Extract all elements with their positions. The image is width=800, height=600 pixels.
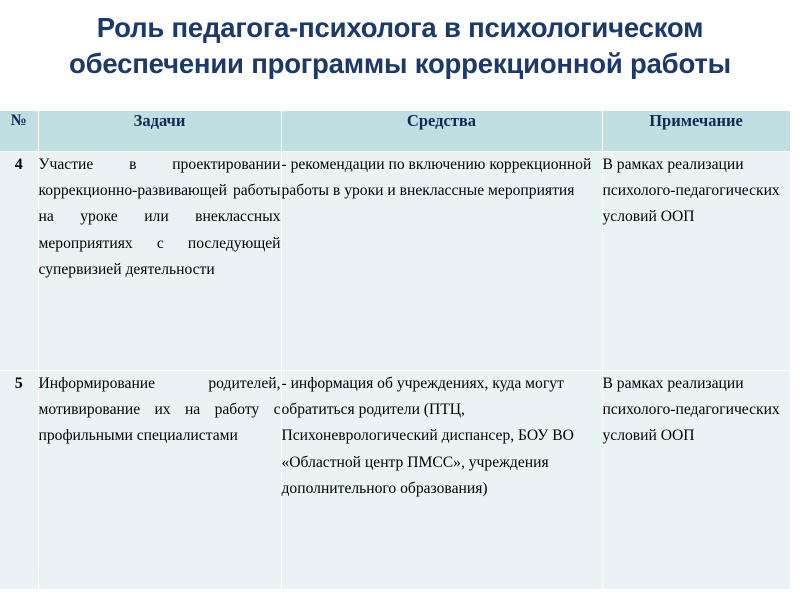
column-header-tasks: Задачи — [38, 111, 281, 152]
page-title: Роль педагога-психолога в психологическо… — [0, 10, 800, 82]
row-task-cell: Информирование родителей, мотивирование … — [38, 371, 281, 590]
row-note-cell: В рамках реализации психолого-педагогиче… — [602, 371, 790, 590]
row-task-text: Информирование родителей, мотивирование … — [39, 371, 281, 450]
row-means-cell: - информация об учреждениях, куда могут … — [281, 371, 602, 590]
row-note-text: В рамках реализации психолого-педагогиче… — [603, 152, 790, 231]
row-means-text: - информация об учреждениях, куда могут … — [282, 371, 602, 502]
row-number-cell: 5 — [0, 371, 38, 590]
column-header-number: № — [0, 111, 38, 152]
table-row: 5 Информирование родителей, мотивировани… — [0, 371, 790, 590]
content-table: № Задачи Средства Примечание 4 Участие в… — [0, 111, 791, 590]
table-row: 4 Участие в проектировании коррекционно-… — [0, 152, 790, 371]
table-header: № Задачи Средства Примечание — [0, 111, 790, 152]
column-header-note: Примечание — [602, 111, 790, 152]
table-header-row: № Задачи Средства Примечание — [0, 111, 790, 152]
slide: Роль педагога-психолога в психологическо… — [0, 0, 800, 600]
row-means-text: - рекомендации по включению коррекционно… — [282, 152, 602, 204]
row-task-text: Участие в проектировании коррекционно-ра… — [39, 152, 281, 283]
row-note-cell: В рамках реализации психолого-педагогиче… — [602, 152, 790, 371]
row-task-cell: Участие в проектировании коррекционно-ра… — [38, 152, 281, 371]
table-body: 4 Участие в проектировании коррекционно-… — [0, 152, 790, 590]
row-number-cell: 4 — [0, 152, 38, 371]
row-means-cell: - рекомендации по включению коррекционно… — [281, 152, 602, 371]
content-table-container: № Задачи Средства Примечание 4 Участие в… — [0, 111, 790, 590]
column-header-means: Средства — [281, 111, 602, 152]
row-note-text: В рамках реализации психолого-педагогиче… — [603, 371, 790, 450]
